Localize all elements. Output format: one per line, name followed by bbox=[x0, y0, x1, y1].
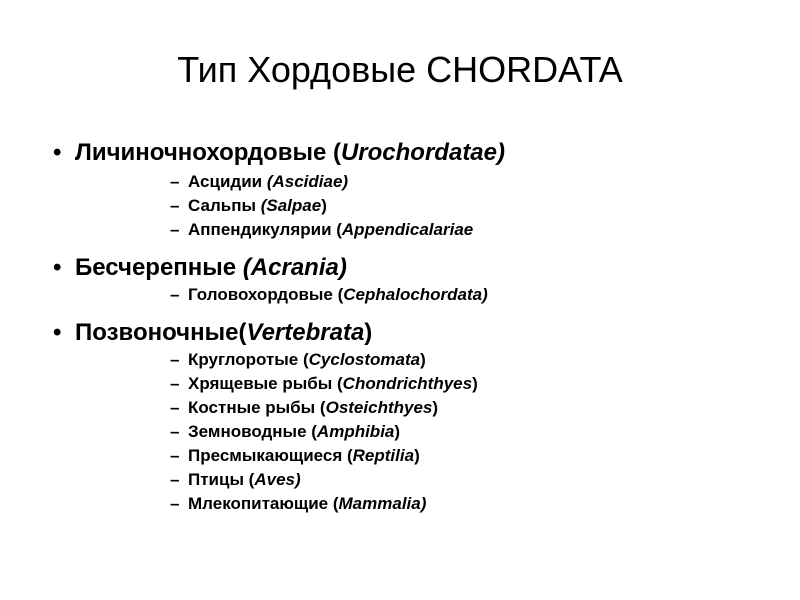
dash-icon: – bbox=[170, 283, 179, 307]
dash-icon: – bbox=[170, 218, 179, 242]
list-item: –Млекопитающие (Mammalia) bbox=[45, 492, 765, 516]
list-item-label-plain: Круглоротые ( bbox=[188, 350, 309, 369]
list-item: –Птицы (Aves) bbox=[45, 468, 765, 492]
dash-icon: – bbox=[170, 420, 179, 444]
list-item-label-plain: Пресмыкающиеся ( bbox=[188, 446, 353, 465]
list-item-label-scientific: Mammalia) bbox=[339, 494, 427, 513]
list-item: –Земноводные (Amphibia) bbox=[45, 420, 765, 444]
list-item-label-scientific: Osteichthyes bbox=[326, 398, 433, 417]
list-item: –Головохордовые (Cephalochordata) bbox=[45, 283, 765, 307]
list-item-label-scientific: Cephalochordata) bbox=[343, 285, 488, 304]
list-item-label-plain: Аппендикулярии ( bbox=[188, 220, 342, 239]
bullet-item-acrania: •Бесчерепные (Acrania) bbox=[45, 252, 765, 283]
slide-canvas: Тип Хордовые CHORDATA •Личиночнохордовые… bbox=[0, 0, 800, 600]
outline-group-vertebrata: •Позвоночные(Vertebrata) –Круглоротые (C… bbox=[45, 317, 765, 516]
bullet-label-scientific: (Acrania) bbox=[243, 254, 347, 281]
dash-icon: – bbox=[170, 396, 179, 420]
list-item-label-plain: Птицы ( bbox=[188, 470, 254, 489]
list-item: –Костные рыбы (Osteichthyes) bbox=[45, 396, 765, 420]
dash-icon: – bbox=[170, 348, 179, 372]
list-item: –Асцидии (Ascidiae) bbox=[45, 170, 765, 194]
dash-icon: – bbox=[170, 492, 179, 516]
outline-group-urochordatae: •Личиночнохордовые (Urochordatae) –Асцид… bbox=[45, 137, 765, 242]
list-item-label-plain: Костные рыбы ( bbox=[188, 398, 326, 417]
list-item: –Круглоротые (Cyclostomata) bbox=[45, 348, 765, 372]
bullet-label-scientific: Vertebrata bbox=[246, 319, 364, 346]
page-title: Тип Хордовые CHORDATA bbox=[0, 48, 800, 92]
list-item-label-tail: ) bbox=[414, 446, 420, 465]
dash-icon: – bbox=[170, 444, 179, 468]
dash-icon: – bbox=[170, 194, 179, 218]
list-item-label-scientific: Amphibia bbox=[317, 422, 394, 441]
bullet-item-vertebrata: •Позвоночные(Vertebrata) bbox=[45, 317, 765, 348]
sublist-vertebrata: –Круглоротые (Cyclostomata) –Хрящевые ры… bbox=[45, 348, 765, 516]
outline-group-acrania: •Бесчерепные (Acrania) –Головохордовые (… bbox=[45, 252, 765, 307]
list-item-label-plain: Асцидии bbox=[188, 172, 267, 191]
list-item: –Пресмыкающиеся (Reptilia) bbox=[45, 444, 765, 468]
list-item-label-tail: ) bbox=[432, 398, 438, 417]
outline-body: •Личиночнохордовые (Urochordatae) –Асцид… bbox=[45, 137, 765, 516]
sublist-urochordatae: –Асцидии (Ascidiae) –Сальпы (Salpae) –Ап… bbox=[45, 170, 765, 242]
list-item: –Аппендикулярии (Appendicalariae bbox=[45, 218, 765, 242]
sublist-acrania: –Головохордовые (Cephalochordata) bbox=[45, 283, 765, 307]
dash-icon: – bbox=[170, 170, 179, 194]
dash-icon: – bbox=[170, 468, 179, 492]
bullet-icon: • bbox=[53, 137, 61, 168]
bullet-label-plain: Бесчерепные bbox=[75, 254, 243, 281]
list-item: –Хрящевые рыбы (Chondrichthyes) bbox=[45, 372, 765, 396]
list-item-label-plain: Млекопитающие ( bbox=[188, 494, 339, 513]
list-item-label-plain: Хрящевые рыбы ( bbox=[188, 374, 343, 393]
list-item-label-plain: Головохордовые ( bbox=[188, 285, 343, 304]
list-item-label-scientific: (Salpae bbox=[261, 196, 321, 215]
list-item-label-scientific: Cyclostomata bbox=[309, 350, 420, 369]
list-item-label-scientific: Chondrichthyes bbox=[343, 374, 472, 393]
bullet-icon: • bbox=[53, 252, 61, 283]
list-item: –Сальпы (Salpae) bbox=[45, 194, 765, 218]
list-item-label-plain: Сальпы bbox=[188, 196, 261, 215]
list-item-label-tail: ) bbox=[394, 422, 400, 441]
bullet-label-plain: Позвоночные( bbox=[75, 319, 246, 346]
list-item-label-scientific: (Ascidiae) bbox=[267, 172, 348, 191]
list-item-label-tail: ) bbox=[472, 374, 478, 393]
list-item-label-scientific: Reptilia bbox=[353, 446, 414, 465]
bullet-icon: • bbox=[53, 317, 61, 348]
bullet-label-plain: Личиночнохордовые ( bbox=[75, 139, 341, 166]
bullet-item-urochordatae: •Личиночнохордовые (Urochordatae) bbox=[45, 137, 765, 168]
bullet-label-scientific: Urochordatae) bbox=[341, 139, 505, 166]
list-item-label-scientific: Aves) bbox=[254, 470, 300, 489]
dash-icon: – bbox=[170, 372, 179, 396]
list-item-label-scientific: Appendicalariae bbox=[342, 220, 473, 239]
list-item-label-plain: Земноводные ( bbox=[188, 422, 317, 441]
list-item-label-tail: ) bbox=[321, 196, 327, 215]
list-item-label-tail: ) bbox=[420, 350, 426, 369]
bullet-label-tail: ) bbox=[364, 319, 372, 346]
